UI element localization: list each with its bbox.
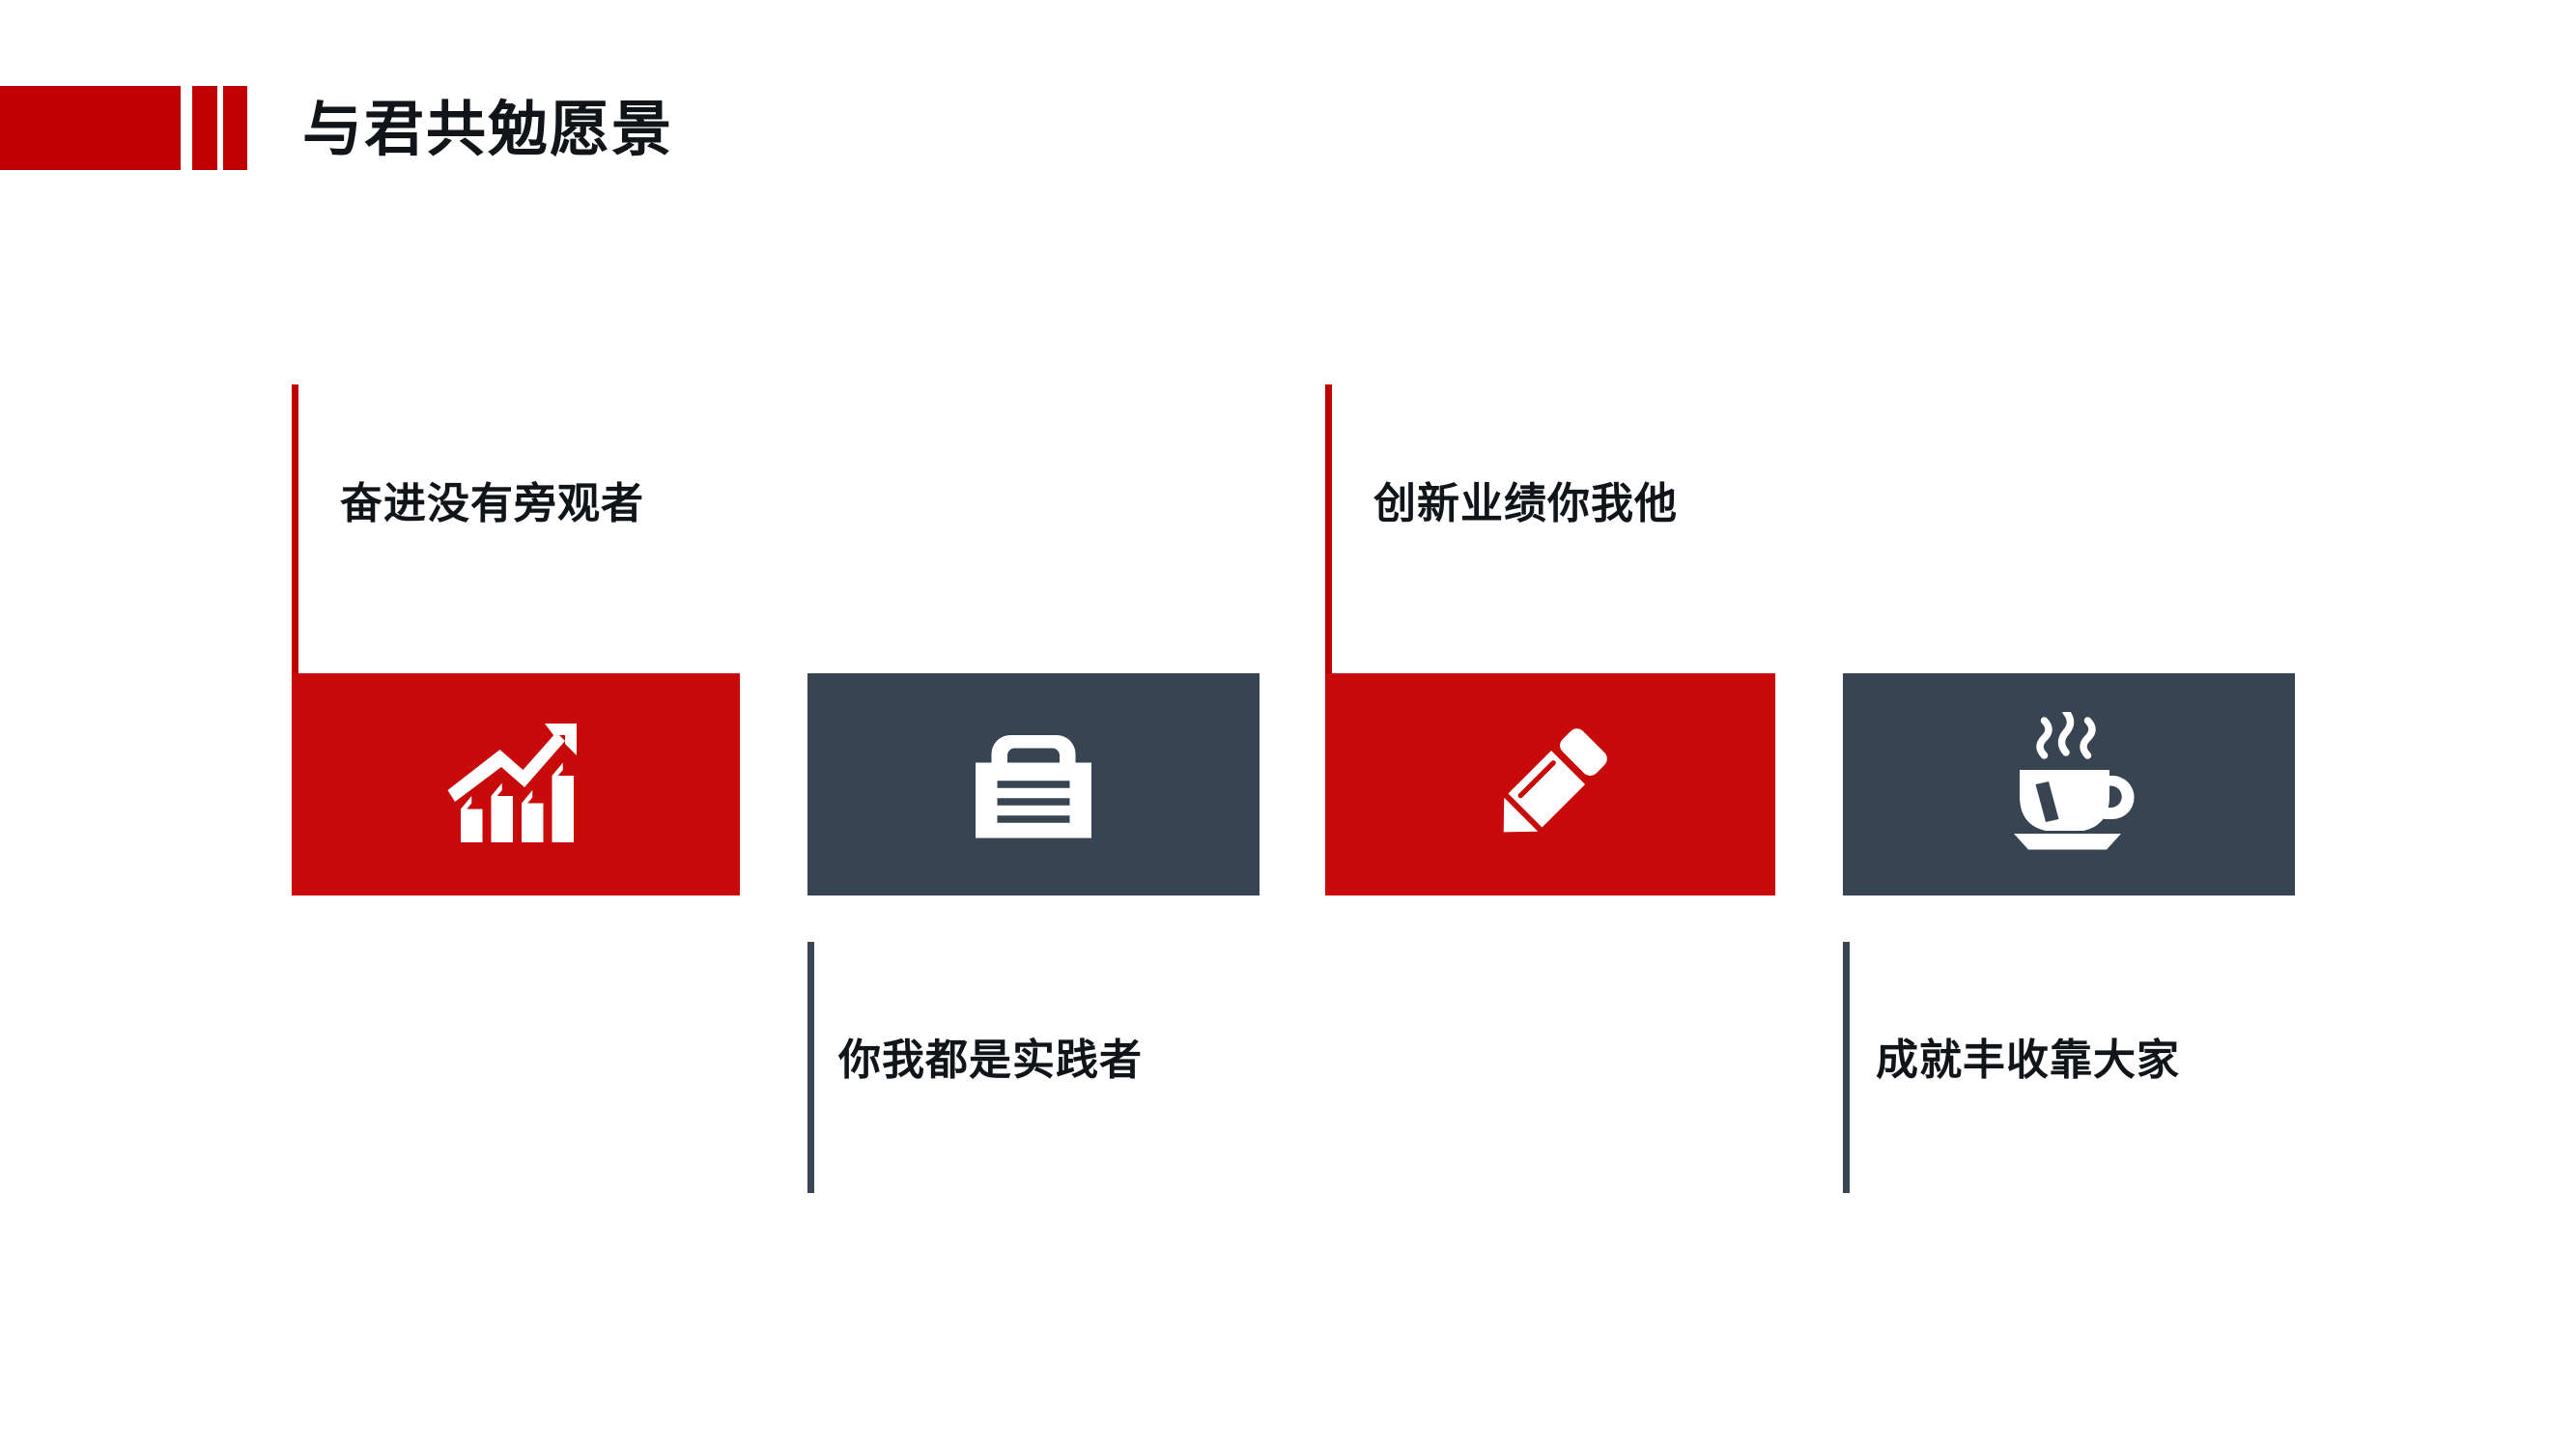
card-1[interactable] xyxy=(292,673,740,895)
card-label-4: 成就丰收靠大家 xyxy=(1876,1034,2180,1088)
page-title: 与君共勉愿景 xyxy=(302,92,673,169)
connector-line-card-1 xyxy=(292,384,298,674)
coffee-cup-icon xyxy=(1996,712,2141,857)
briefcase-icon xyxy=(961,712,1106,857)
card-4[interactable] xyxy=(1843,673,2295,895)
card-label-2: 你我都是实践者 xyxy=(838,1034,1143,1088)
card-label-1: 奋进没有旁观者 xyxy=(340,477,644,531)
card-2[interactable] xyxy=(807,673,1260,895)
card-3[interactable] xyxy=(1325,673,1775,895)
connector-line-card-4 xyxy=(1843,942,1850,1193)
slide-canvas: 与君共勉愿景 奋进没有旁观者 创新业绩你我他 你我都是实践者 成就丰收靠大家 xyxy=(0,0,2576,1449)
connector-line-card-2 xyxy=(807,942,814,1193)
header-red-block xyxy=(0,86,181,170)
pencil-edit-icon xyxy=(1478,712,1623,857)
card-label-3: 创新业绩你我他 xyxy=(1373,477,1678,531)
header-accent-bar-2 xyxy=(223,86,247,170)
growth-chart-icon xyxy=(443,712,588,857)
header-accent-bar-1 xyxy=(192,86,217,170)
connector-line-card-3 xyxy=(1325,384,1332,674)
